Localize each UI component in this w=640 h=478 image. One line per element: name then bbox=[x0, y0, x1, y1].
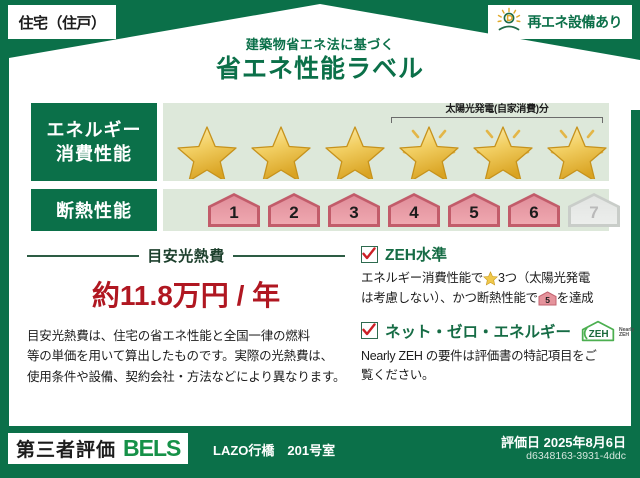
insulation-badge-number: 2 bbox=[265, 203, 323, 223]
energy-performance-label: 住宅（住戸） 再エネ設備あり 建築物省エネ法に基づく bbox=[0, 0, 640, 478]
insulation-performance-tag: 断熱性能 bbox=[31, 189, 157, 231]
label-body-panel: エネルギー 消費性能 太陽光発電(自家消費)分 断熱性能 1234567 目安光… bbox=[9, 93, 631, 426]
zeh-body-post: を達成 bbox=[557, 289, 594, 309]
cost-heading-label: 目安光熱費 bbox=[147, 245, 225, 266]
zeh-standard-check: ZEH水準 エネルギー消費性能で 3つ（太陽光発電 は考慮しない）、かつ断熱性能 bbox=[361, 243, 615, 309]
zeh-logo-subtext: NearlyZEH bbox=[619, 328, 634, 343]
cost-rule-right bbox=[233, 255, 345, 257]
insulation-badge-5: 5 bbox=[445, 191, 503, 229]
cost-note: 目安光熱費は、住宅の省エネ性能と全国一律の燃料 等の単価を用いて算出したものです… bbox=[27, 326, 345, 387]
certification-checks: ZEH水準 エネルギー消費性能で 3つ（太陽光発電 は考慮しない）、かつ断熱性能 bbox=[361, 243, 615, 396]
zeh-body-star-count: 3つ（太陽光発電 bbox=[498, 269, 590, 289]
energy-star-6 bbox=[541, 119, 613, 179]
insulation-badge-number: 4 bbox=[385, 203, 443, 223]
energy-star-3 bbox=[319, 119, 391, 179]
energy-tag-line1: エネルギー bbox=[47, 118, 142, 142]
cost-heading: 目安光熱費 bbox=[27, 245, 345, 266]
house-type-label: 住宅（住戸） bbox=[18, 12, 105, 33]
inline-insulation-badge-icon: 5 bbox=[538, 291, 557, 306]
cost-note-line-3: 使用条件や設備、契約会社・方法などにより異なります。 bbox=[27, 367, 345, 387]
net-zero-energy-head: ネット・ゼロ・エネルギー ZEH NearlyZEH bbox=[361, 319, 615, 343]
checkmark-icon bbox=[361, 246, 378, 263]
insulation-badge-number: 1 bbox=[205, 203, 263, 223]
property-name: LAZO行橋 201号室 bbox=[213, 440, 335, 459]
insulation-badge-row: 1234567 bbox=[205, 191, 623, 229]
cost-note-line-2: 等の単価を用いて算出したものです。実際の光熱費は、 bbox=[27, 346, 345, 366]
cost-value: 約11.8万円 / 年 bbox=[27, 274, 345, 314]
insulation-level-field: 1234567 bbox=[163, 189, 609, 231]
net-zero-energy-title: ネット・ゼロ・エネルギー bbox=[385, 320, 571, 342]
zeh-standard-title: ZEH水準 bbox=[385, 243, 447, 265]
bels-jp-label: 第三者評価 bbox=[16, 435, 116, 462]
energy-star-row bbox=[171, 119, 613, 179]
zeh-standard-body: エネルギー消費性能で 3つ（太陽光発電 は考慮しない）、かつ断熱性能で bbox=[361, 269, 615, 309]
insulation-badge-number: 3 bbox=[325, 203, 383, 223]
zeh-house-logo-icon: ZEH NearlyZEH bbox=[578, 319, 634, 343]
house-type-tag: 住宅（住戸） bbox=[8, 5, 116, 39]
insulation-badge-number: 5 bbox=[445, 203, 503, 223]
net-zero-energy-check: ネット・ゼロ・エネルギー ZEH NearlyZEH Nearly ZEH の要… bbox=[361, 319, 615, 387]
solar-sun-icon bbox=[496, 7, 522, 38]
zeh-body-mid: は考慮しない）、かつ断熱性能で bbox=[361, 289, 538, 309]
bels-logo-text: BELS bbox=[123, 435, 180, 462]
energy-star-1 bbox=[171, 119, 243, 179]
net-zero-energy-body: Nearly ZEH の要件は評価書の特記項目をご 覧ください。 bbox=[361, 347, 615, 387]
label-footer: 第三者評価 BELS LAZO行橋 201号室 評価日 2025年8月6日 d6… bbox=[0, 426, 640, 478]
insulation-badge-6: 6 bbox=[505, 191, 563, 229]
insulation-badge-number: 7 bbox=[565, 203, 623, 223]
energy-star-5 bbox=[467, 119, 539, 179]
cost-note-line-1: 目安光熱費は、住宅の省エネ性能と全国一律の燃料 bbox=[27, 326, 345, 346]
insulation-badge-3: 3 bbox=[325, 191, 383, 229]
insulation-tag-label: 断熱性能 bbox=[56, 197, 132, 223]
energy-performance-tag: エネルギー 消費性能 bbox=[31, 103, 157, 181]
renewable-equipment-badge: 再エネ設備あり bbox=[488, 5, 633, 39]
estimated-utility-cost-section: 目安光熱費 約11.8万円 / 年 目安光熱費は、住宅の省エネ性能と全国一律の燃… bbox=[27, 245, 345, 387]
svg-text:5: 5 bbox=[545, 295, 550, 305]
renewable-badge-label: 再エネ設備あり bbox=[528, 12, 623, 32]
energy-tag-line2: 消費性能 bbox=[56, 142, 132, 166]
inline-star-icon bbox=[483, 271, 498, 286]
nzeh-body-line-2: 覧ください。 bbox=[361, 366, 615, 386]
cost-rule-left bbox=[27, 255, 139, 257]
energy-star-2 bbox=[245, 119, 317, 179]
zeh-standard-head: ZEH水準 bbox=[361, 243, 615, 265]
energy-star-4 bbox=[393, 119, 465, 179]
bels-certification-box: 第三者評価 BELS bbox=[8, 433, 188, 464]
insulation-badge-number: 6 bbox=[505, 203, 563, 223]
solar-bracket-label: 太陽光発電(自家消費)分 bbox=[391, 105, 603, 115]
nzeh-body-line-1: Nearly ZEH の要件は評価書の特記項目をご bbox=[361, 347, 615, 367]
svg-text:ZEH: ZEH bbox=[589, 329, 609, 340]
evaluation-id: d6348163-3931-4ddc bbox=[526, 450, 626, 462]
checkmark-icon bbox=[361, 322, 378, 339]
insulation-badge-1: 1 bbox=[205, 191, 263, 229]
insulation-badge-7: 7 bbox=[565, 191, 623, 229]
zeh-body-pre: エネルギー消費性能で bbox=[361, 269, 483, 289]
insulation-badge-2: 2 bbox=[265, 191, 323, 229]
evaluation-date: 評価日 2025年8月6日 bbox=[501, 432, 626, 451]
insulation-badge-4: 4 bbox=[385, 191, 443, 229]
energy-star-field: 太陽光発電(自家消費)分 bbox=[163, 103, 609, 181]
